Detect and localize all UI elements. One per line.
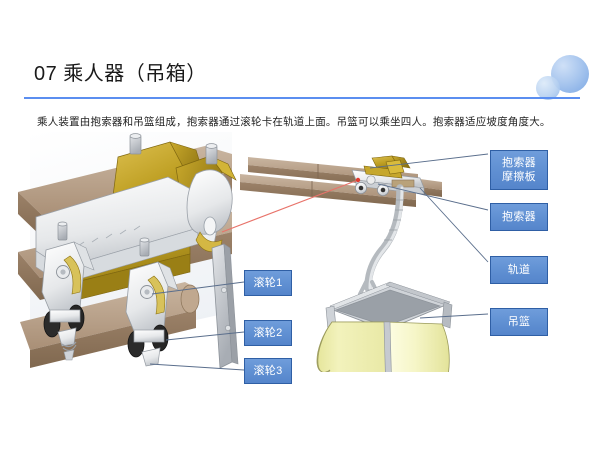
- slide-canvas: 07 乘人器（吊箱） 乘人装置由抱索器和吊篮组成，抱索器通过滚轮卡在轨道上面。吊…: [0, 0, 600, 450]
- callout-friction-plate-line1: 抱索器: [502, 157, 536, 169]
- subtitle-text: 乘人装置由抱索器和吊篮组成，抱索器通过滚轮卡在轨道上面。吊篮可以乘坐四人。抱索器…: [37, 114, 551, 129]
- callout-cabin[interactable]: 吊篮: [490, 308, 548, 336]
- callout-friction-plate[interactable]: 抱索器 摩擦板: [490, 150, 548, 190]
- callout-grip[interactable]: 抱索器: [490, 203, 548, 231]
- page-title: 07 乘人器（吊箱）: [34, 57, 207, 86]
- callout-friction-plate-line2: 摩擦板: [502, 171, 536, 183]
- title-divider: [24, 97, 580, 99]
- callout-roller-1[interactable]: 滚轮1: [244, 270, 292, 296]
- callout-roller-2[interactable]: 滚轮2: [244, 320, 292, 346]
- callout-roller-3[interactable]: 滚轮3: [244, 358, 292, 384]
- callout-rail[interactable]: 轨道: [490, 256, 548, 284]
